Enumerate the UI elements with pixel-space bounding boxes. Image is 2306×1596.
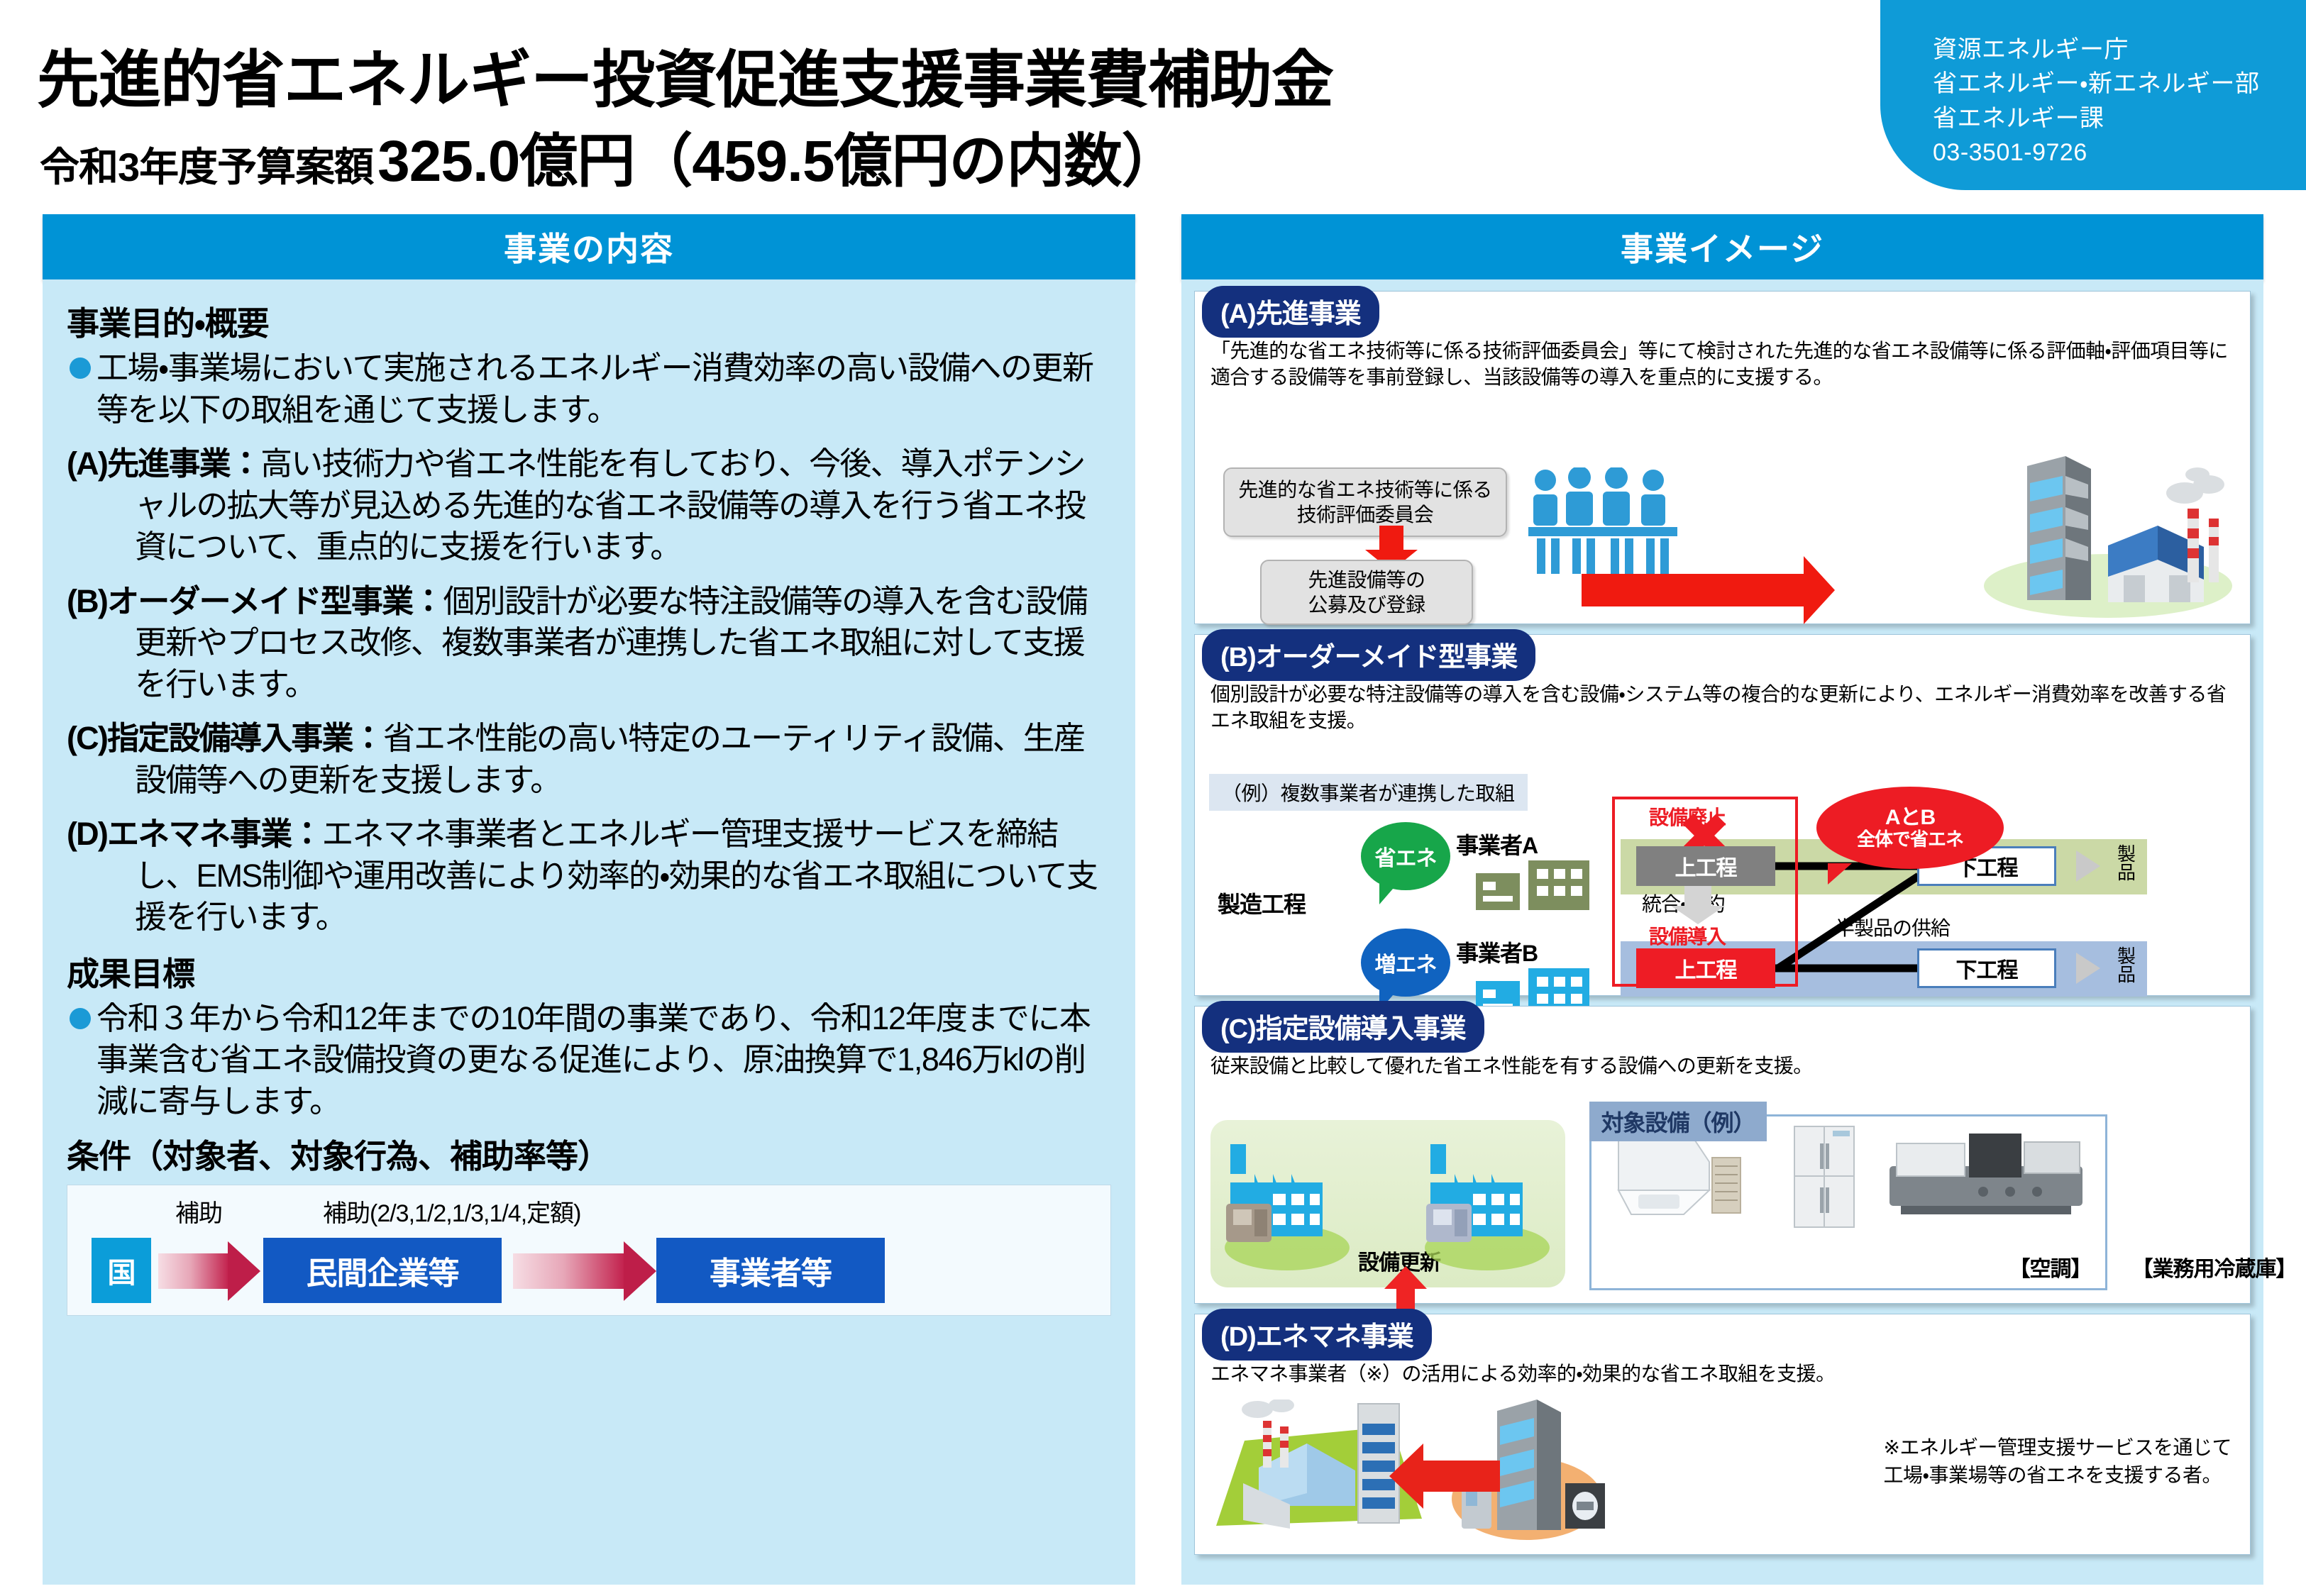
panel-d: (D)エネマネ事業 エネマネ事業者（※）の活用による効率的・効果的な省エネ取組を… (1194, 1314, 2251, 1555)
purpose-heading: 事業目的・概要 (67, 298, 1111, 345)
purpose-bullet-row: 工場・事業場において実施されるエネルギー消費効率の高い設備への更新等を以下の取組… (67, 348, 1111, 431)
contact-line-3: 省エネルギー課 (1933, 101, 2306, 135)
registration-box-line1: 先進設備等の (1308, 567, 1425, 592)
product-label-a: 製品 (2117, 845, 2135, 882)
budget-line: 令和3年度予算案額 325.0億円（459.5億円の内数） (40, 113, 1179, 198)
committee-box-line1: 先進的な省エネ技術等に係る (1238, 477, 1492, 502)
semi-product-supply-label: 半製品の供給 (1835, 913, 1950, 941)
flow-arrow-1-icon (158, 1253, 229, 1289)
commercial-refrigerator-icon (1777, 1122, 1870, 1232)
old-factory-icon (1223, 1136, 1351, 1270)
lower-process-b: 下工程 (1917, 948, 2056, 988)
manufacturing-process-label: 製造工程 (1218, 887, 1306, 919)
item-d-label: (D)エネマネ事業： (67, 816, 321, 852)
panel-b-example-label: （例）複数事業者が連携した取組 (1209, 774, 1528, 811)
flow-arrow-2-icon (513, 1253, 625, 1289)
down-arrow-gray-icon (1684, 885, 1711, 906)
panel-b-tab: (B)オーダーメイド型事業 (1202, 629, 1535, 681)
item-a: (A)先進事業：高い技術力や省エネ性能を有しており、今後、導入ポテンシャルの拡大… (67, 443, 1111, 568)
badge-energy-saving: 省エネ (1361, 822, 1450, 890)
panel-b-desc: 個別設計が必要な特注設備等の導入を含む設備・システム等の複合的な更新により、エネ… (1210, 682, 2234, 734)
panel-c-tab: (C)指定設備導入事業 (1202, 1001, 1484, 1053)
panel-d-tab: (D)エネマネ事業 (1202, 1309, 1432, 1361)
panel-c-desc: 従来設備と比較して優れた省エネ性能を有する設備への更新を支援。 (1210, 1053, 2234, 1080)
subsidy-flow-diagram: 補助 補助(2/3,1/2,1/3,1/4,定額) 国 民間企業等 事業者等 (67, 1185, 1111, 1316)
contact-box: 資源エネルギー庁 省エネルギー・新エネルギー部 省エネルギー課 03-3501-… (1880, 0, 2306, 190)
flow-node-business-operator: 事業者等 (656, 1238, 885, 1303)
badge-energy-increase-text: 増エネ (1375, 947, 1437, 978)
panel-d-note-line-2: 工場・事業場等の省エネを支援する者。 (1884, 1461, 2231, 1489)
registration-box: 先進設備等の 公募及び登録 (1260, 560, 1473, 625)
equipment-introduce-label: 設備導入 (1649, 921, 1726, 950)
equipment-label-0: 【空調】 (2009, 1251, 2092, 1282)
item-b-label: (B)オーダーメイド型事業： (67, 583, 443, 619)
left-section-header: 事業の内容 (43, 214, 1135, 279)
right-column: 事業イメージ (A)先進事業 「先進的な省エネ技術等に係る技術評価委員会」等にて… (1181, 214, 2263, 1585)
right-section-header: 事業イメージ (1181, 214, 2263, 279)
item-b: (B)オーダーメイド型事業：個別設計が必要な特注設備等の導入を含む設備更新やプロ… (67, 581, 1111, 706)
panel-a-desc: 「先進的な省エネ技術等に係る技術評価委員会」等にて検討された先進的な省エネ設備等… (1210, 338, 2234, 391)
panel-d-note-line-1: ※エネルギー管理支援サービスを通じて (1884, 1434, 2231, 1461)
bullet-dot-icon (70, 1008, 91, 1029)
panel-a: (A)先進事業 「先進的な省エネ技術等に係る技術評価委員会」等にて検討された先進… (1194, 291, 2251, 624)
down-arrow-red-icon (1379, 526, 1403, 550)
callout-line-1: AとB (1885, 806, 1935, 829)
panel-d-note: ※エネルギー管理支援サービスを通じて 工場・事業場等の省エネを支援する者。 (1884, 1434, 2231, 1489)
outcome-bullet-row: 令和３年から令和12年までの10年間の事業であり、令和12年度までに本事業含む省… (67, 998, 1111, 1123)
injection-molding-machine-icon (1884, 1126, 2090, 1226)
item-c: (C)指定設備導入事業：省エネ性能の高い特定のユーティリティ設備、生産設備等への… (67, 718, 1111, 801)
panel-b: (B)オーダーメイド型事業 個別設計が必要な特注設備等の導入を含む設備・システム… (1194, 634, 2251, 996)
item-d: (D)エネマネ事業：エネマネ事業者とエネルギー管理支援サービスを締結し、EMS制… (67, 814, 1111, 938)
contact-phone: 03-3501-9726 (1933, 135, 2306, 170)
target-equipment-tab: 対象設備（例） (1589, 1102, 1767, 1141)
item-a-text: 高い技術力や省エネ性能を有しており、今後、導入ポテンシャルの拡大等が見込める先進… (135, 445, 1085, 565)
badge-energy-increase: 増エネ (1361, 929, 1450, 997)
product-label-b: 製品 (2117, 947, 2135, 984)
purpose-bullet-text: 工場・事業場において実施されるエネルギー消費効率の高い設備への更新等を以下の取組… (96, 348, 1111, 431)
committee-box: 先進的な省エネ技術等に係る 技術評価委員会 (1223, 467, 1507, 537)
bullet-dot-icon (70, 358, 91, 379)
upper-process-b: 上工程 (1636, 948, 1775, 988)
support-arrow-red-icon (1422, 1461, 1500, 1492)
conditions-heading: 条件（対象者、対象行為、補助率等） (67, 1131, 1111, 1177)
overall-saving-callout: AとB 全体で省エネ (1816, 787, 2004, 869)
equipment-label-1: 【業務用冷蔵庫】 (2132, 1251, 2297, 1282)
right-section-body: (A)先進事業 「先進的な省エネ技術等に係る技術評価委員会」等にて検討された先進… (1181, 279, 2263, 1585)
equipment-renewal-illustration: 設備更新 (1210, 1120, 1565, 1287)
building-a-icon (1476, 855, 1589, 910)
page-title: 先進的省エネルギー投資促進支援事業費補助金 (37, 30, 1333, 120)
new-factory-icon (1423, 1136, 1551, 1270)
registration-box-line2: 公募及び登録 (1308, 592, 1425, 617)
panel-d-desc: エネマネ事業者（※）の活用による効率的・効果的な省エネ取組を支援。 (1210, 1361, 2234, 1387)
panel-a-tab: (A)先進事業 (1202, 286, 1379, 338)
upper-process-a: 上工程 (1636, 846, 1775, 886)
flow-label-2: 補助(2/3,1/2,1/3,1/4,定額) (323, 1194, 581, 1229)
flow-label-1: 補助 (175, 1194, 222, 1229)
budget-amount: 325.0億円（459.5億円の内数） (377, 113, 1179, 198)
budget-label: 令和3年度予算案額 (40, 135, 373, 193)
poster-root: 資源エネルギー庁 省エネルギー・新エネルギー部 省エネルギー課 03-3501-… (0, 0, 2306, 1596)
left-column: 事業の内容 事業目的・概要 工場・事業場において実施されるエネルギー消費効率の高… (43, 214, 1135, 1585)
callout-line-2: 全体で省エネ (1857, 829, 1963, 850)
item-a-label: (A)先進事業： (67, 445, 260, 482)
flow-node-private-company: 民間企業等 (263, 1238, 502, 1303)
outcome-heading: 成果目標 (67, 948, 1111, 995)
left-section-body: 事業目的・概要 工場・事業場において実施されるエネルギー消費効率の高い設備への更… (43, 279, 1135, 1585)
contact-line-1: 資源エネルギー庁 (1933, 33, 2306, 67)
equipment-label-row: 【空調】 【業務用冷蔵庫】 【射出成形機】 (1989, 1251, 2306, 1282)
committee-box-line2: 技術評価委員会 (1238, 502, 1492, 527)
product-arrow-b-icon (2076, 953, 2100, 984)
product-arrow-a-icon (2076, 850, 2100, 882)
contact-line-2: 省エネルギー・新エネルギー部 (1933, 67, 2306, 101)
committee-people-icon (1528, 467, 1677, 581)
flow-node-country: 国 (92, 1238, 151, 1303)
panel-c: (C)指定設備導入事業 従来設備と比較して優れた省エネ性能を有する設備への更新を… (1194, 1006, 2251, 1304)
factory-building-illustration (1959, 440, 2236, 618)
outcome-bullet-text: 令和３年から令和12年までの10年間の事業であり、令和12年度までに本事業含む省… (96, 998, 1111, 1123)
badge-energy-saving-text: 省エネ (1375, 841, 1437, 872)
item-c-label: (C)指定設備導入事業： (67, 720, 383, 756)
